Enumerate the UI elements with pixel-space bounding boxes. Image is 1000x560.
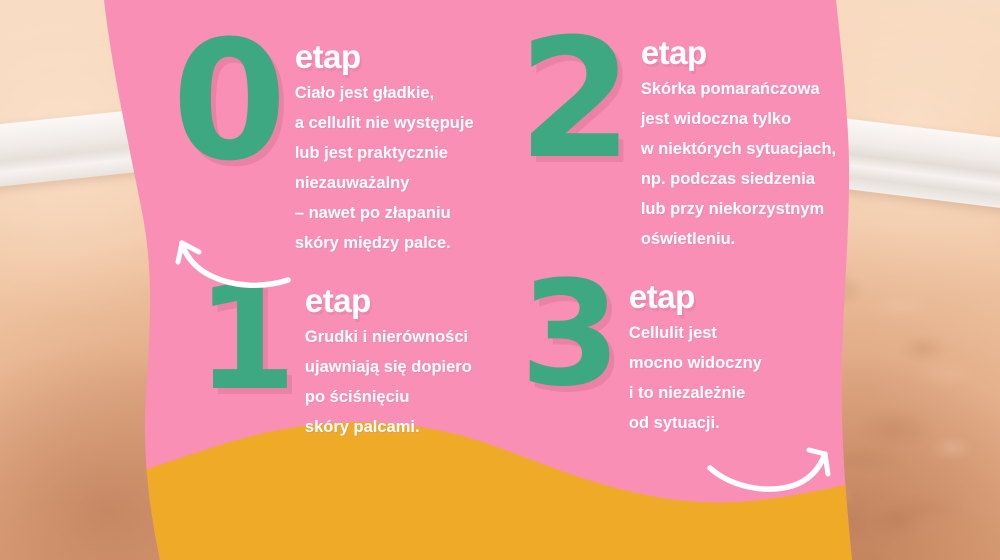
description-line: w niektórych sytuacjach, <box>641 134 836 164</box>
infographic-canvas: 0 etap Ciało jest gładkie, a cellulit ni… <box>0 0 1000 560</box>
description-line: ujawniają się dopiero <box>305 352 472 382</box>
stage-description-3: Cellulit jest mocno widoczny i to niezal… <box>629 318 762 438</box>
stage-description-2: Skórka pomarańczowa jest widoczna tylko … <box>641 74 836 254</box>
description-line: po ściśnięciu <box>305 382 472 412</box>
description-line: np. podczas siedzenia <box>641 164 836 194</box>
description-line: od sytuacji. <box>629 408 762 438</box>
description-line: mocno widoczny <box>629 348 762 378</box>
stage-label-3: etap <box>629 280 762 313</box>
stage-label-0: etap <box>295 40 474 73</box>
description-line: – nawet po złapaniu <box>295 198 474 228</box>
description-line: oświetleniu. <box>641 224 836 254</box>
description-line: skóry palcami. <box>305 412 472 442</box>
description-line: Skórka pomarańczowa <box>641 74 836 104</box>
stage-numeral-2: 2 <box>518 30 631 169</box>
stage-description-1: Grudki i nierówności ujawniają się dopie… <box>305 322 472 442</box>
description-line: lub przy niekorzystnym <box>641 194 836 224</box>
stage-card-0: 0 etap Ciało jest gładkie, a cellulit ni… <box>172 32 474 258</box>
description-line: Ciało jest gładkie, <box>295 78 474 108</box>
description-line: lub jest praktycznie <box>295 138 474 168</box>
stage-card-1: 1 etap Grudki i nierówności ujawniają si… <box>196 278 472 442</box>
stage-numeral-1: 1 <box>196 278 295 400</box>
description-line: skóry między palce. <box>295 228 474 258</box>
description-line: Grudki i nierówności <box>305 322 472 352</box>
stage-numeral-0: 0 <box>172 32 285 171</box>
description-line: a cellulit nie występuje <box>295 108 474 138</box>
description-line: niezauważalny <box>295 168 474 198</box>
stage-description-0: Ciało jest gładkie, a cellulit nie wystę… <box>295 78 474 258</box>
description-line: Cellulit jest <box>629 318 762 348</box>
stage-card-2: 2 etap Skórka pomarańczowa jest widoczna… <box>518 30 836 254</box>
description-line: i to niezależnie <box>629 378 762 408</box>
stage-label-2: etap <box>641 36 836 69</box>
curved-arrow-up-left-icon <box>168 232 294 292</box>
curved-arrow-up-right-icon <box>706 442 840 498</box>
stage-numeral-3: 3 <box>520 274 619 396</box>
stage-card-3: 3 etap Cellulit jest mocno widoczny i to… <box>520 274 762 438</box>
description-line: jest widoczna tylko <box>641 104 836 134</box>
stage-cards-container: 0 etap Ciało jest gładkie, a cellulit ni… <box>0 0 1000 560</box>
stage-label-1: etap <box>305 284 472 317</box>
